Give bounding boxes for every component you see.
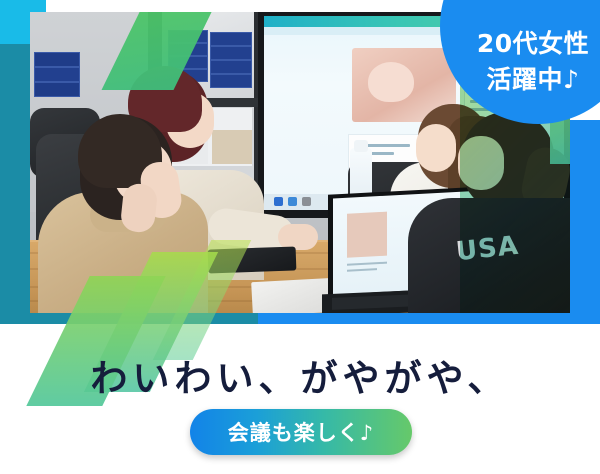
photo-monitor-hero-face	[368, 62, 414, 102]
photo-laptop-image	[347, 212, 387, 258]
photo-storage-box	[34, 67, 80, 82]
photo-storage-box	[210, 74, 252, 88]
decor-blue-bottom-bar	[258, 312, 600, 324]
photo-laptop-text-line	[347, 262, 387, 266]
photo-storage-box	[34, 52, 80, 67]
badge-line-1: 20代女性	[458, 24, 600, 60]
photo-monitor-taskbar-icon	[274, 197, 283, 206]
photo-storage-box	[210, 32, 252, 46]
recruit-banner: USA 20代女性 活躍中♪ わいわい、がやがや、 会議も楽しく♪	[0, 0, 600, 474]
photo-storage-box	[210, 60, 252, 74]
badge-line-2: 活躍中♪	[458, 60, 600, 96]
photo-monitor-taskbar-icon	[288, 197, 297, 206]
photo-laptop-text-line	[347, 268, 377, 272]
photo-storage-box	[34, 82, 80, 97]
page-title: わいわい、がやがや、	[0, 348, 600, 402]
photo-monitor-taskbar-icon	[302, 197, 311, 206]
photo-person-face	[416, 124, 456, 172]
cta-button[interactable]: 会議も楽しく♪	[190, 409, 412, 455]
photo-cardboard-box	[212, 130, 252, 164]
photo-spray-bottle-cap	[354, 140, 368, 152]
photo-storage-box	[210, 46, 252, 60]
decor-blue-right-bar	[566, 120, 600, 320]
